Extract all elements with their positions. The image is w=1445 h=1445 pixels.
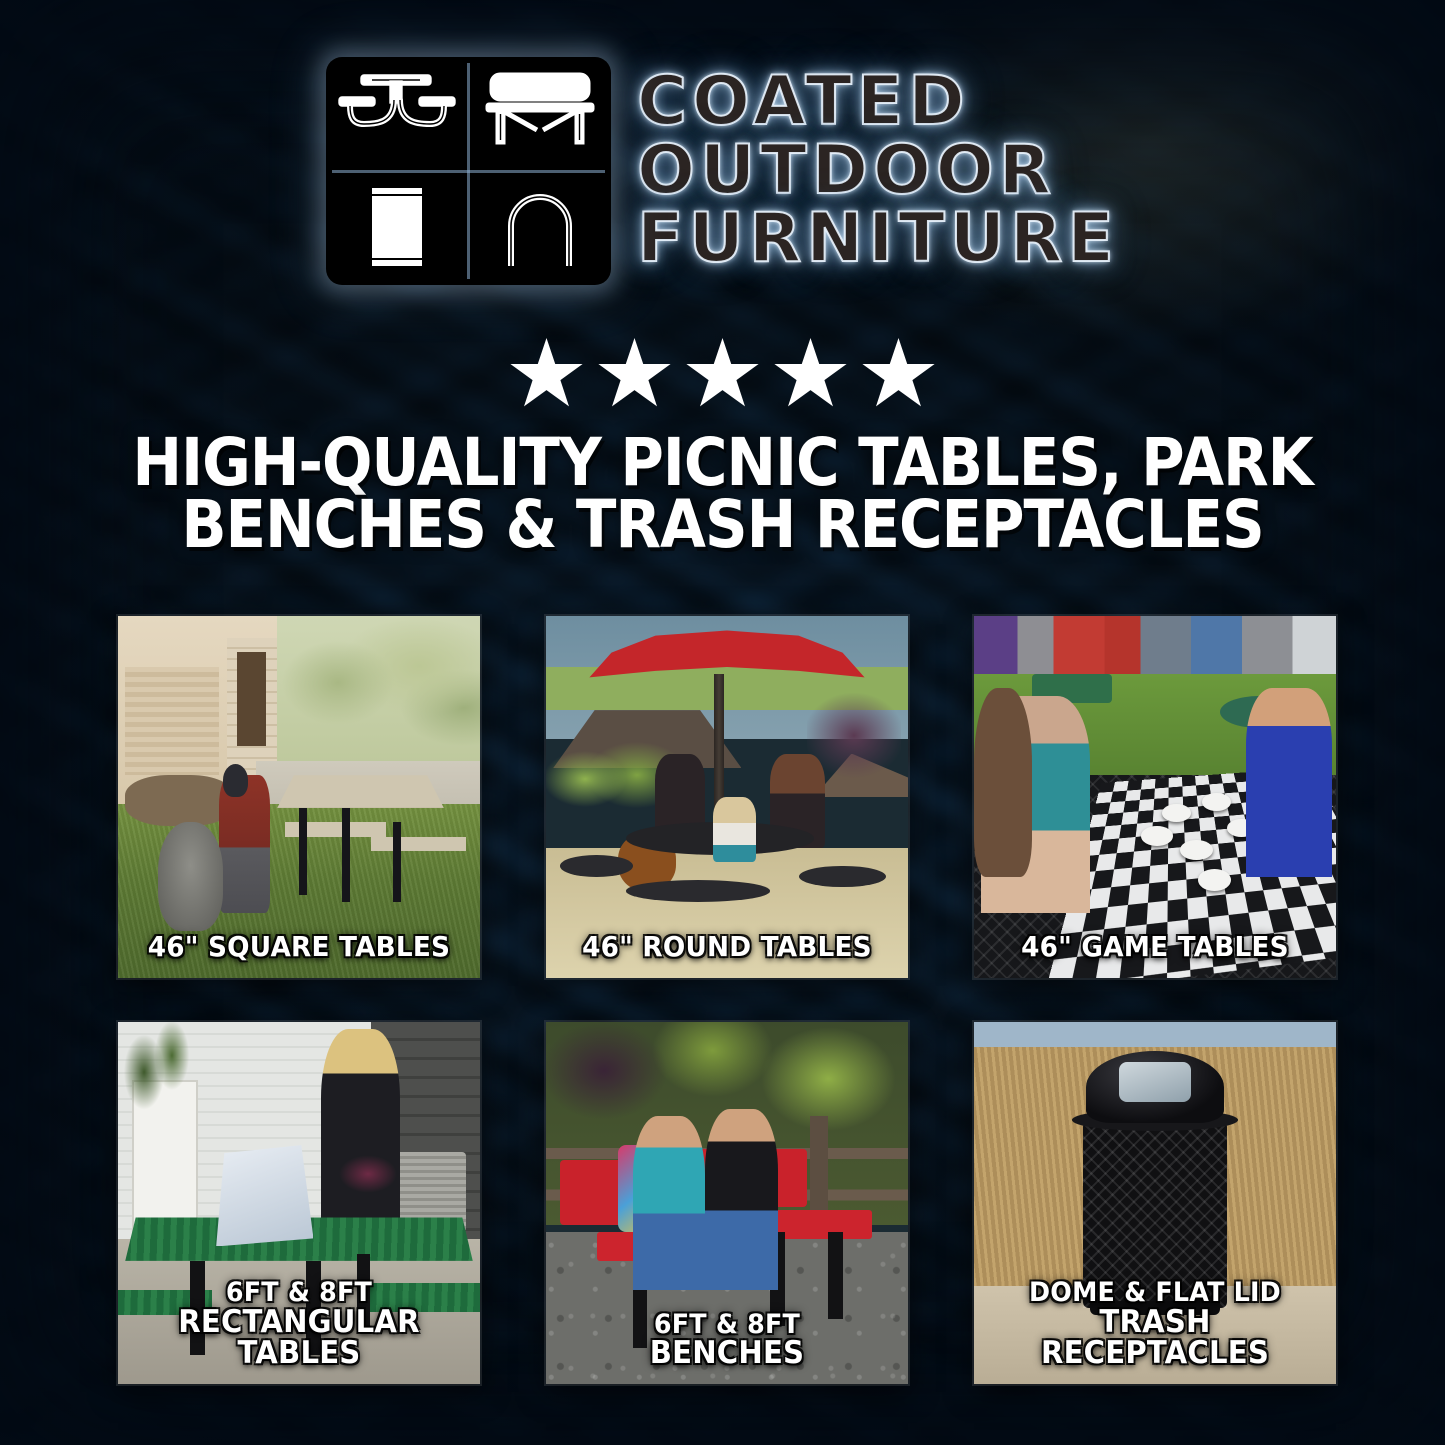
gallery-tile-square-tables[interactable]: 46" SQUARE TABLES bbox=[118, 616, 480, 978]
page-title: HIGH-QUALITY PICNIC TABLES, PARK BENCHES… bbox=[72, 432, 1373, 556]
brand-name: COATED OUTDOOR FURNITURE bbox=[637, 69, 1119, 273]
brand-name-line-3: FURNITURE bbox=[637, 206, 1119, 273]
caption-line-2: BENCHES bbox=[557, 1338, 897, 1370]
gallery-tile-caption: 46" SQUARE TABLES bbox=[129, 933, 469, 962]
star-icon bbox=[686, 338, 760, 412]
gallery-tile-round-tables[interactable]: 46" ROUND TABLES bbox=[546, 616, 908, 978]
star-icon bbox=[774, 338, 848, 412]
caption-line-1: 46" SQUARE TABLES bbox=[129, 933, 469, 962]
caption-line-1: 46" ROUND TABLES bbox=[557, 933, 897, 962]
gallery-tile-rectangular-tables[interactable]: 6FT & 8FT RECTANGULAR TABLES bbox=[118, 1022, 480, 1384]
gallery-tile-game-tables[interactable]: 46" GAME TABLES bbox=[974, 616, 1336, 978]
gallery-tile-caption: 46" ROUND TABLES bbox=[557, 933, 897, 962]
brand-header: COATED OUTDOOR FURNITURE bbox=[0, 57, 1445, 285]
caption-line-1: 6FT & 8FT bbox=[557, 1311, 897, 1339]
gallery-tile-caption: 6FT & 8FT RECTANGULAR TABLES bbox=[129, 1279, 469, 1370]
brand-name-line-2: OUTDOOR bbox=[637, 138, 1119, 205]
gallery-tile-trash-receptacles[interactable]: DOME & FLAT LID TRASH RECEPTACLES bbox=[974, 1022, 1336, 1384]
gallery-tile-benches[interactable]: 6FT & 8FT BENCHES bbox=[546, 1022, 908, 1384]
square-tables-photo bbox=[118, 616, 480, 978]
headline-line-2: BENCHES & TRASH RECEPTACLES bbox=[72, 494, 1373, 556]
rating-stars bbox=[0, 338, 1445, 412]
bench-table-side-icon bbox=[469, 57, 612, 171]
product-gallery: 46" SQUARE TABLES bbox=[118, 616, 1336, 1384]
headline-line-1: HIGH-QUALITY PICNIC TABLES, PARK bbox=[72, 432, 1373, 494]
gallery-tile-caption: 46" GAME TABLES bbox=[985, 933, 1325, 962]
picnic-table-front-icon bbox=[326, 57, 469, 171]
caption-line-2: TRASH RECEPTACLES bbox=[985, 1307, 1325, 1370]
gallery-tile-caption: DOME & FLAT LID TRASH RECEPTACLES bbox=[985, 1279, 1325, 1370]
round-tables-photo bbox=[546, 616, 908, 978]
caption-line-1: DOME & FLAT LID bbox=[985, 1279, 1325, 1307]
caption-line-1: 6FT & 8FT bbox=[129, 1279, 469, 1307]
caption-line-1: 46" GAME TABLES bbox=[985, 933, 1325, 962]
logo-lockup: COATED OUTDOOR FURNITURE bbox=[326, 57, 1119, 285]
brand-name-line-1: COATED bbox=[637, 69, 1119, 136]
star-icon bbox=[598, 338, 672, 412]
trash-receptacle-icon bbox=[326, 171, 469, 285]
game-tables-photo bbox=[974, 616, 1336, 978]
caption-line-2: RECTANGULAR TABLES bbox=[129, 1307, 469, 1370]
star-icon bbox=[510, 338, 584, 412]
gallery-tile-caption: 6FT & 8FT BENCHES bbox=[557, 1311, 897, 1370]
star-icon bbox=[862, 338, 936, 412]
bike-rack-arch-icon bbox=[469, 171, 612, 285]
promo-graphic: COATED OUTDOOR FURNITURE HIGH-QUALITY PI… bbox=[0, 0, 1445, 1445]
logo-mark bbox=[326, 57, 611, 285]
